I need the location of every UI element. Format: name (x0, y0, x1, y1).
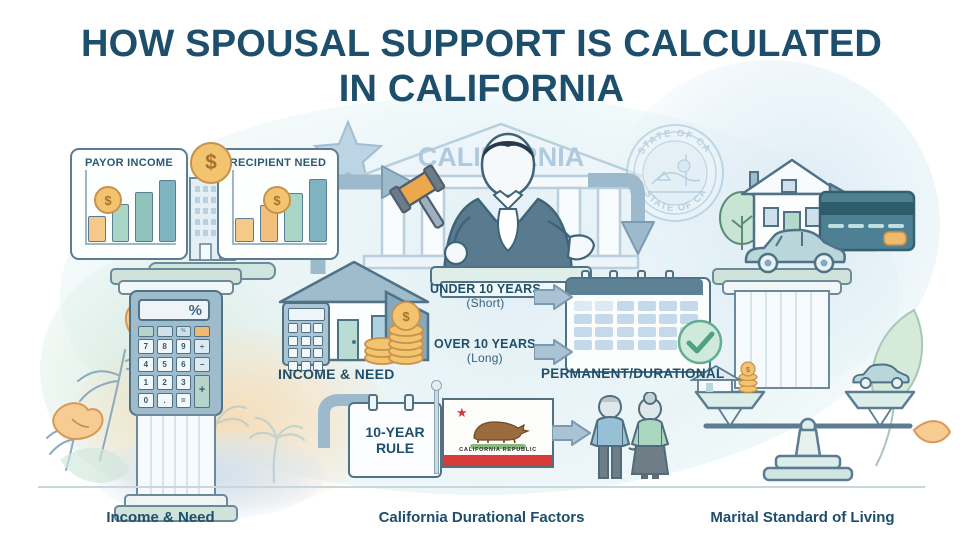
recipient-need-title: RECIPIENT NEED (219, 157, 337, 169)
title-line-1: HOW SPOUSAL SUPPORT IS CALCULATED (0, 22, 963, 67)
footer-divider (38, 486, 925, 488)
svg-text:$: $ (746, 367, 750, 374)
car-icon (740, 222, 850, 276)
permanent-durational-caption: PERMANENT/DURATIONAL (541, 366, 725, 381)
flow-arrow-right-down-icon (586, 168, 666, 260)
under-10-years-label: UNDER 10 YEARS (430, 282, 541, 296)
flag-text: CALIFORNIA REPUBLIC (444, 447, 552, 453)
calculator-display: % (138, 299, 210, 321)
calculator-keypad[interactable]: 789÷ 456− 123+ 0.= (138, 339, 210, 408)
california-flag-icon: ★ CALIFORNIA REPUBLIC (442, 398, 550, 464)
calculator-body: % % 789÷ 456− 123+ 0.= (129, 290, 223, 416)
footer-labels: Income & Need California Durational Fact… (0, 496, 963, 538)
payor-coin-icon: $ (94, 186, 122, 214)
flagpole (434, 386, 439, 474)
bear-icon (468, 414, 532, 444)
over-10-years-sub: (Long) (434, 351, 536, 365)
elderly-couple-icon (584, 392, 676, 484)
title-line-2: IN CALIFORNIA (0, 67, 963, 112)
recipient-coin-icon: $ (263, 186, 291, 214)
payor-income-title: PAYOR INCOME (72, 157, 186, 169)
calculator-function-row[interactable]: % (138, 326, 210, 337)
gavel-icon (385, 160, 457, 232)
footer-item-california-durational-factors: California Durational Factors (321, 509, 642, 526)
branch-arrow-long-icon (534, 339, 574, 365)
income-need-caption: INCOME & NEED (278, 366, 395, 382)
infographic-canvas: HOW SPOUSAL SUPPORT IS CALCULATED IN CAL… (0, 0, 963, 538)
flag-star-icon: ★ (456, 406, 468, 419)
footer-item-income-and-need: Income & Need (0, 509, 321, 526)
dollar-coin-icon: $ (190, 142, 232, 184)
small-calculator-icon (282, 302, 330, 366)
branch-arrow-short-icon (534, 284, 574, 310)
recipient-need-card: RECIPIENT NEED $ (217, 148, 339, 260)
under-10-years-sub: (Short) (430, 296, 541, 310)
duration-branch-under-10: UNDER 10 YEARS (Short) (430, 282, 541, 310)
svg-text:$: $ (402, 309, 410, 324)
binder-ring-right (404, 394, 414, 411)
over-10-years-label: OVER 10 YEARS (434, 337, 536, 351)
coin-stack-icon: $ (360, 300, 426, 366)
ten-year-rule-line-1: 10-YEAR (365, 424, 424, 440)
ten-year-rule-line-2: RULE (376, 440, 414, 456)
footer-item-marital-standard-of-living: Marital Standard of Living (642, 509, 963, 526)
payor-income-card: PAYOR INCOME $ (70, 148, 188, 260)
flagpole-finial (431, 380, 442, 391)
binder-ring-left (368, 394, 378, 411)
scales-of-justice-icon: $ (690, 358, 926, 486)
duration-branch-over-10: OVER 10 YEARS (Long) (434, 337, 536, 365)
ten-year-rule-card: 10-YEAR RULE (348, 402, 442, 478)
page-title: HOW SPOUSAL SUPPORT IS CALCULATED IN CAL… (0, 22, 963, 112)
